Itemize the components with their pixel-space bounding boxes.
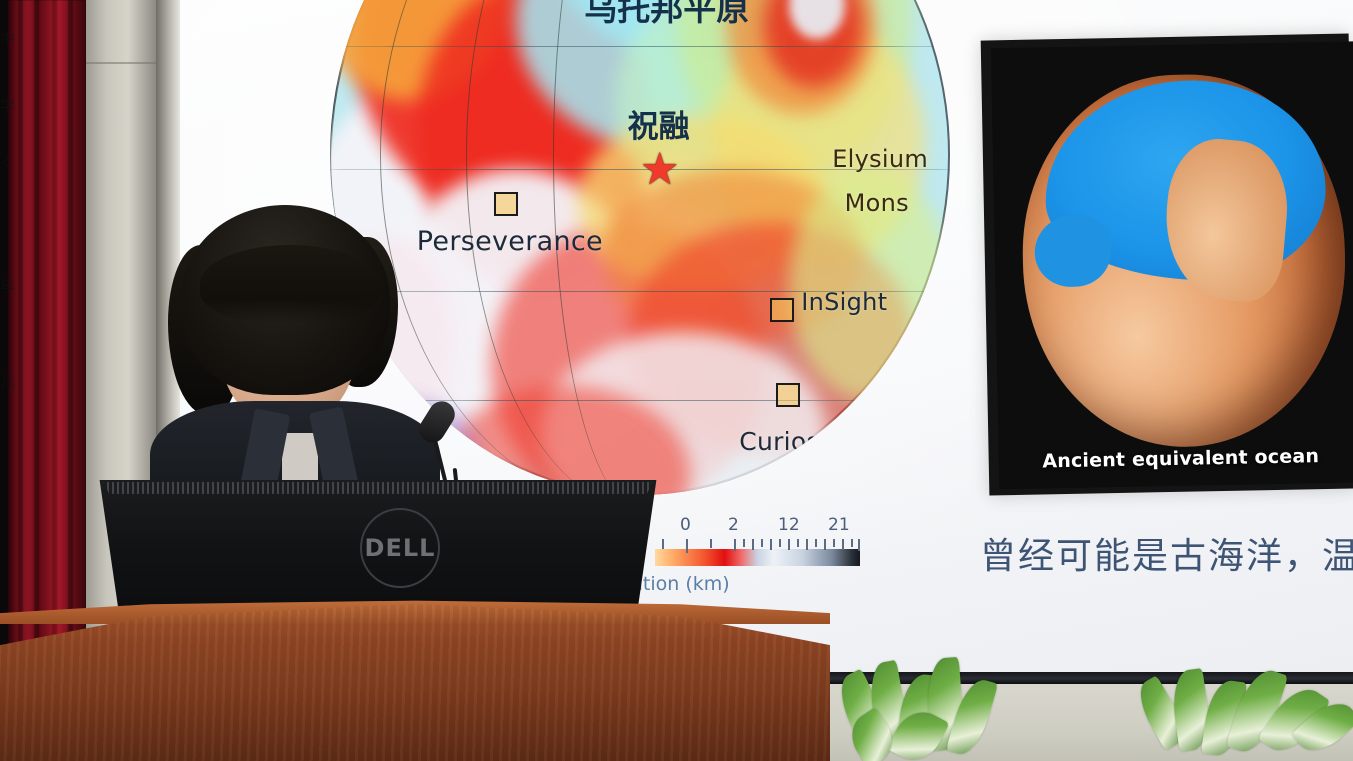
colorbar-tick-0: 0: [680, 515, 691, 535]
slide-bottom-text: 曾经可能是古海洋，温暖湿: [980, 527, 1353, 579]
label-insight: InSight: [801, 288, 887, 316]
ancient-ocean-figure: Ancient equivalent ocean: [981, 34, 1353, 496]
edge-character-3: く: [0, 152, 15, 173]
potted-plant-left: [836, 648, 1046, 761]
ancient-ocean-caption: Ancient equivalent ocean: [999, 444, 1353, 473]
edge-character-1: 中: [0, 28, 15, 49]
podium-wood-grain: [0, 604, 830, 761]
potted-plant-right: [1140, 660, 1353, 761]
label-perseverance: Perseverance: [417, 226, 603, 257]
insight-square-marker: [770, 298, 794, 322]
label-elysium: Elysium: [832, 145, 928, 173]
ocean-water-overlay-west: [1034, 214, 1111, 287]
edge-character-2: 学: [0, 95, 15, 116]
dell-logo: DELL: [360, 508, 440, 588]
label-mons: Mons: [845, 189, 909, 217]
hair-fringe: [200, 245, 380, 323]
ancient-ocean-image: Ancient equivalent ocean: [991, 41, 1353, 489]
zhurong-star-marker: ★: [640, 148, 679, 192]
pillar-seam: [86, 62, 156, 64]
colorbar-tick-12: 12: [778, 515, 800, 535]
label-curiosity: Curiosity: [739, 427, 852, 456]
label-zhurong: 祝融: [628, 101, 690, 146]
colorbar-tick-2: 2: [728, 515, 739, 535]
edge-character-5: 儿: [0, 370, 15, 391]
dell-logo-text: DELL: [365, 534, 436, 562]
screenshot-root: 中 学 く 年 儿: [0, 0, 1353, 761]
colorbar-tick-21: 21: [828, 515, 850, 535]
edge-character-4: 年: [0, 275, 15, 296]
curiosity-square-marker: [776, 383, 800, 407]
label-utopia-planitia: 乌托邦平原: [584, 0, 749, 30]
monitor-vent-strip: [92, 482, 664, 494]
perseverance-square-marker: [494, 192, 518, 216]
